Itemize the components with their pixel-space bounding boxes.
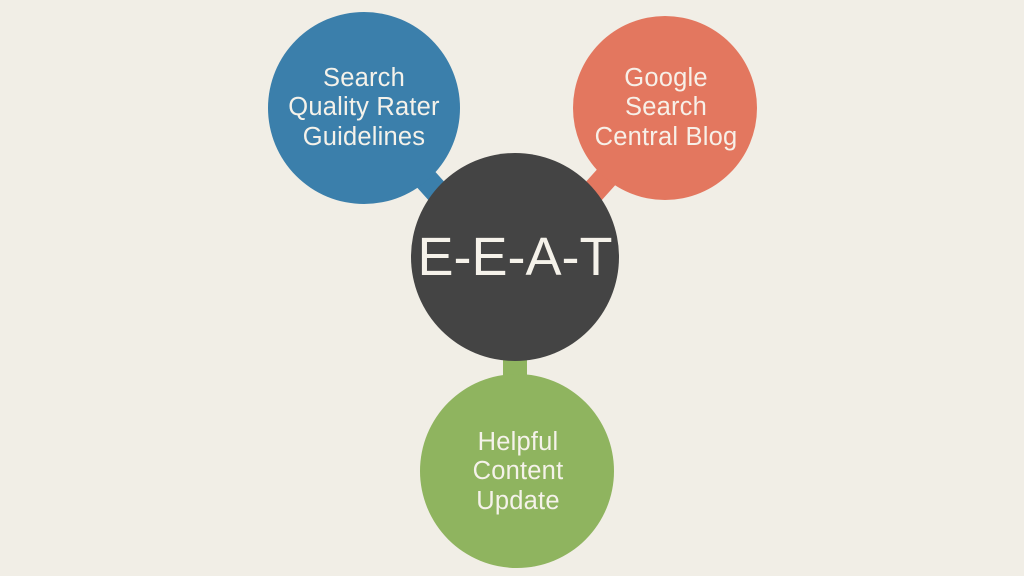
- node-eeat-center[interactable]: [411, 153, 619, 361]
- node-search-quality-rater-guidelines[interactable]: [268, 12, 460, 204]
- node-google-search-central-blog[interactable]: [573, 16, 757, 200]
- node-helpful-content-update[interactable]: [420, 374, 614, 568]
- diagram-canvas: Search Quality Rater Guidelines Google S…: [0, 0, 1024, 576]
- eeat-hub-and-spoke-diagram: [0, 0, 1024, 576]
